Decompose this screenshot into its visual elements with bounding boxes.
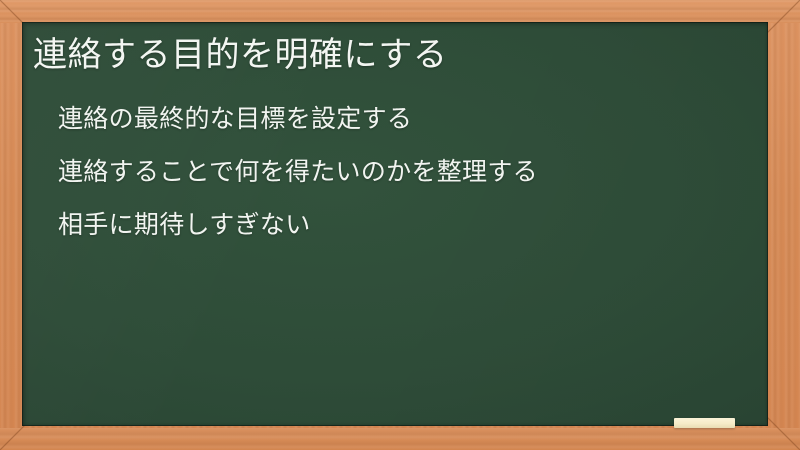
wooden-frame-top-rail	[0, 0, 800, 23]
bullet-item: 連絡の最終的な目標を設定する	[58, 106, 748, 132]
chalk-stick-icon	[674, 418, 735, 428]
bullet-list: 連絡の最終的な目標を設定する 連絡することで何を得たいのかを整理する 相手に期待…	[58, 106, 748, 265]
chalkboard-surface: 連絡する目的を明確にする 連絡の最終的な目標を設定する 連絡することで何を得たい…	[22, 22, 768, 426]
bullet-item: 相手に期待しすぎない	[58, 212, 748, 238]
wooden-frame-bottom-rail	[0, 428, 800, 450]
slide-title: 連絡する目的を明確にする	[33, 32, 753, 78]
chalkboard-slide: 連絡する目的を明確にする 連絡の最終的な目標を設定する 連絡することで何を得たい…	[0, 0, 800, 450]
bullet-item: 連絡することで何を得たいのかを整理する	[58, 159, 748, 185]
